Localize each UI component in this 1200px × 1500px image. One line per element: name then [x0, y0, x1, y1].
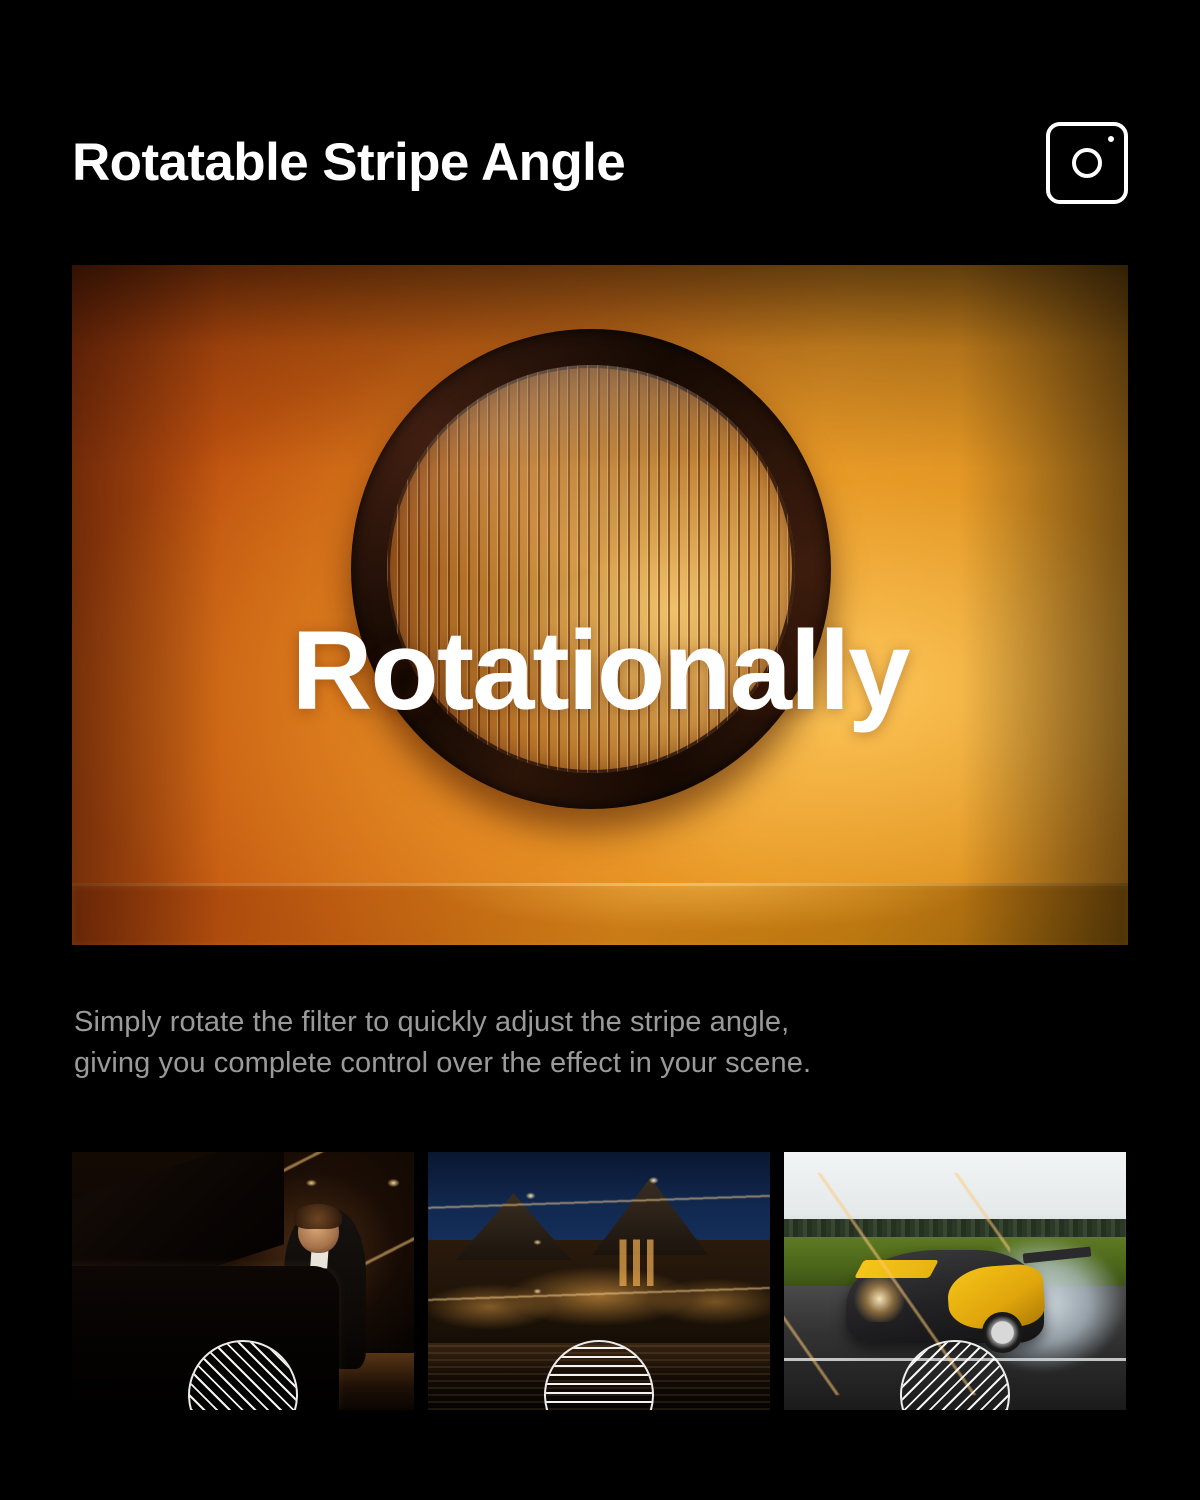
sample-photo-drift-car[interactable] — [784, 1152, 1126, 1410]
diagonal-stripes-icon — [188, 1340, 298, 1410]
product-feature-page: Rotatable Stripe Angle Rotationally Simp… — [0, 0, 1200, 1500]
camera-lens-icon — [1072, 148, 1102, 178]
sample-photo-gallery — [72, 1152, 1128, 1410]
page-header: Rotatable Stripe Angle — [72, 108, 1128, 218]
sample-photo-pianist[interactable] — [72, 1152, 414, 1410]
page-title: Rotatable Stripe Angle — [72, 135, 625, 191]
pianist-hair — [294, 1204, 342, 1230]
horizontal-stripes-icon — [544, 1340, 654, 1410]
stripe-pattern-fill — [546, 1342, 652, 1410]
stripe-pattern-fill — [190, 1342, 296, 1410]
reverse-diagonal-stripes-icon — [900, 1340, 1010, 1410]
hero-image: Rotationally — [72, 265, 1128, 945]
description-line-1: Simply rotate the filter to quickly adju… — [74, 1002, 1124, 1043]
camera-flash-dot-icon — [1108, 136, 1114, 142]
feature-description: Simply rotate the filter to quickly adju… — [74, 1002, 1124, 1084]
stripe-pattern-fill — [902, 1342, 1008, 1410]
description-line-2: giving you complete control over the eff… — [74, 1043, 1124, 1084]
hero-vignette — [72, 265, 1128, 945]
sample-photo-resort[interactable] — [428, 1152, 770, 1410]
camera-icon — [1046, 122, 1128, 204]
hero-overlay-word: Rotationally — [72, 615, 1128, 727]
